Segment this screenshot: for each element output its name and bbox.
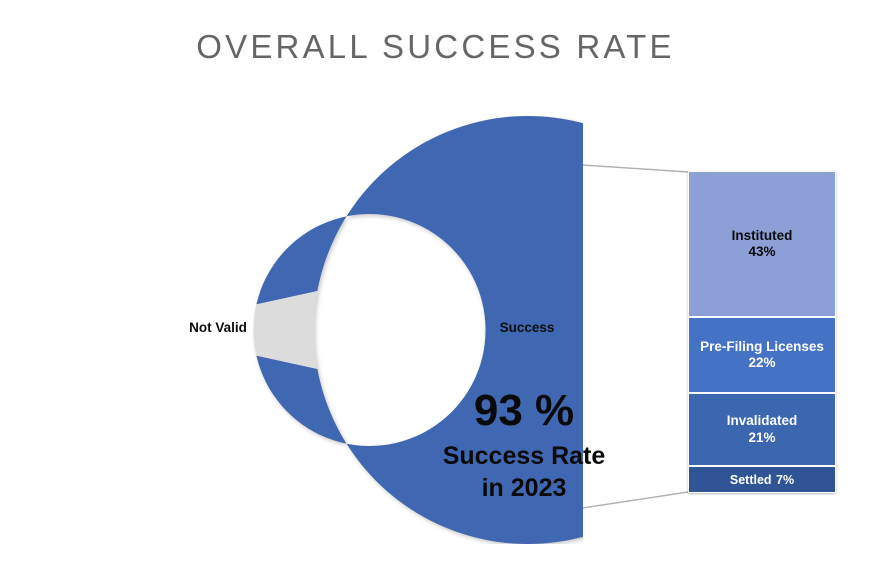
bar-segment-row: Settled 7% — [730, 470, 794, 490]
bar-segment-label: Pre-Filing Licenses — [700, 339, 824, 355]
donut-label-success: Success — [485, 320, 569, 335]
slide-canvas: OVERALL SUCCESS RATE Not Valid Success 9… — [0, 0, 871, 562]
donut-chart: Not Valid Success 93 % Success Rate in 2… — [155, 116, 583, 544]
bar-segment-value: 21% — [748, 430, 775, 446]
page-title: OVERALL SUCCESS RATE — [0, 28, 871, 66]
bar-segment-label: Instituted — [732, 228, 793, 244]
bar-segment-label: Settled — [730, 473, 772, 487]
bar-segment-label: Invalidated — [727, 413, 798, 429]
bar-segment-invalidated[interactable]: Invalidated 21% — [688, 393, 836, 466]
bar-segment-value: 7% — [776, 473, 794, 487]
bar-segment-settled[interactable]: Settled 7% — [688, 466, 836, 493]
donut-label-not-valid: Not Valid — [169, 320, 267, 335]
bar-segment-pre-filing-licenses[interactable]: Pre-Filing Licenses 22% — [688, 317, 836, 393]
bar-segment-instituted[interactable]: Instituted 43% — [688, 171, 836, 317]
bar-segment-value: 22% — [748, 355, 775, 371]
bar-segment-value: 43% — [748, 244, 775, 260]
breakdown-stacked-column: Instituted 43% Pre-Filing Licenses 22% I… — [688, 171, 836, 493]
